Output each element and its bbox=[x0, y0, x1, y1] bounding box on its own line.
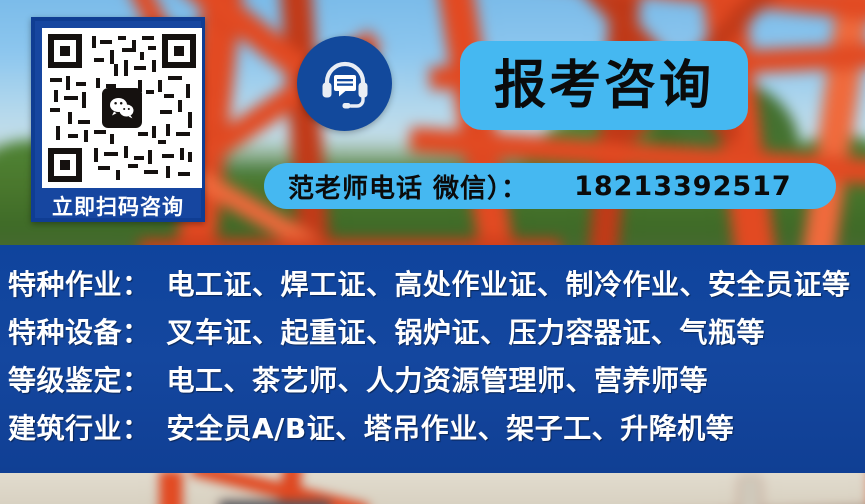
qr-finder-icon bbox=[48, 148, 82, 182]
category-label: 特种设备： bbox=[8, 311, 151, 351]
bottom-photo-canvas bbox=[0, 473, 865, 504]
steel-member bbox=[160, 473, 182, 504]
category-row-special-operations: 特种作业： 电工证、焊工证、高处作业证、制冷作业、安全员证等 bbox=[0, 259, 865, 307]
qr-finder-icon bbox=[162, 34, 196, 68]
category-row-construction-industry: 建筑行业： 安全员A/B证、塔吊作业、架子工、升降机等 bbox=[0, 403, 865, 451]
wechat-icon bbox=[102, 88, 142, 128]
bottom-photo-strip bbox=[0, 473, 865, 504]
page-title: 报考咨询 bbox=[494, 60, 714, 112]
category-value: 电工证、焊工证、高处作业证、制冷作业、安全员证等 bbox=[167, 263, 851, 303]
category-value: 安全员A/B证、塔吊作业、架子工、升降机等 bbox=[167, 407, 735, 447]
title-pill: 报考咨询 bbox=[460, 41, 748, 130]
contact-label: 范老师电话 微信）： bbox=[288, 168, 528, 205]
category-label: 等级鉴定： bbox=[8, 359, 151, 399]
contact-phone-number[interactable]: 18213392517 bbox=[574, 171, 792, 202]
qr-code-image bbox=[42, 28, 202, 188]
headset-support-icon bbox=[317, 56, 373, 112]
category-label: 特种作业： bbox=[8, 263, 151, 303]
category-label: 建筑行业： bbox=[8, 407, 151, 447]
steel-member bbox=[740, 477, 760, 504]
qr-code-icon bbox=[48, 34, 196, 182]
category-value: 叉车证、起重证、锅炉证、压力容器证、气瓶等 bbox=[167, 311, 766, 351]
contact-pill[interactable]: 范老师电话 微信）： 18213392517 bbox=[264, 163, 836, 209]
category-row-special-equipment: 特种设备： 叉车证、起重证、锅炉证、压力容器证、气瓶等 bbox=[0, 307, 865, 355]
headset-support-badge bbox=[297, 36, 392, 131]
qr-code-card[interactable]: 立即扫码咨询 bbox=[31, 17, 205, 222]
category-value: 电工、茶艺师、人力资源管理师、营养师等 bbox=[167, 359, 709, 399]
certificate-categories-panel: 特种作业： 电工证、焊工证、高处作业证、制冷作业、安全员证等 特种设备： 叉车证… bbox=[0, 245, 865, 473]
qr-finder-icon bbox=[48, 34, 82, 68]
category-row-grade-assessment: 等级鉴定： 电工、茶艺师、人力资源管理师、营养师等 bbox=[0, 355, 865, 403]
qr-caption: 立即扫码咨询 bbox=[42, 192, 194, 222]
promo-poster: 立即扫码咨询 报考咨询 范老师电话 微信）： 18213392517 特种作业：… bbox=[0, 0, 865, 504]
